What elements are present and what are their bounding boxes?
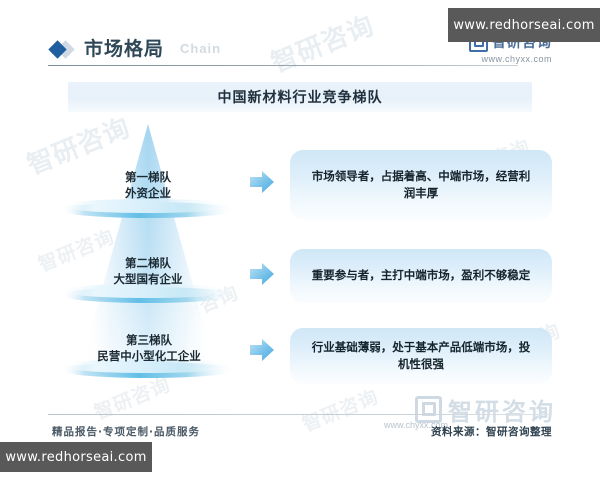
tier-description-3: 行业基础薄弱，处于基本产品低端市场，投机性很强 bbox=[308, 339, 534, 374]
tier-description-box-1: 市场领导者，占据着高、中端市场，经营利润丰厚 bbox=[290, 150, 552, 220]
tier-label-1: 第一梯队 外资企业 bbox=[88, 170, 208, 201]
tier-name-2: 大型国有企业 bbox=[78, 272, 218, 288]
footer-divider bbox=[48, 414, 552, 415]
tier-description-2: 重要参与者，主打中端市场，盈利不够稳定 bbox=[312, 267, 531, 284]
page-subtitle: Chain bbox=[180, 41, 221, 56]
arrow-right-icon bbox=[249, 262, 275, 286]
slide-page: 智研咨询 智研咨询 智研咨询 智研咨询 智研咨询 智研咨询 智研咨询 智研咨询 … bbox=[0, 0, 600, 480]
page-title: 市场格局 bbox=[84, 34, 164, 61]
header-divider bbox=[48, 65, 518, 66]
footer-brand-name: 智研咨询 bbox=[448, 392, 556, 427]
chart-title: 中国新材料行业竞争梯队 bbox=[218, 87, 383, 107]
tier-label-2: 第二梯队 大型国有企业 bbox=[78, 256, 218, 287]
watermark-tile: 智研咨询 bbox=[298, 382, 382, 437]
footer-slogan: 精品报告·专项定制·品质服务 bbox=[52, 424, 200, 439]
tier-name-1: 外资企业 bbox=[88, 186, 208, 202]
tier-rank-1: 第一梯队 bbox=[88, 170, 208, 186]
zhiyan-logo-icon bbox=[415, 396, 442, 423]
arrow-right-icon bbox=[249, 338, 275, 362]
tier-rank-3: 第三梯队 bbox=[64, 333, 234, 349]
footer-source: 资料来源：智研咨询整理 bbox=[431, 424, 552, 439]
tier-rank-2: 第二梯队 bbox=[78, 256, 218, 272]
tier-description-box-3: 行业基础薄弱，处于基本产品低端市场，投机性很强 bbox=[290, 328, 552, 384]
diamond-icon bbox=[48, 40, 78, 60]
redhorse-watermark-top: www.redhorseai.com bbox=[448, 8, 600, 42]
tier-name-3: 民营中小型化工企业 bbox=[64, 349, 234, 365]
brand-url: www.chyxx.com bbox=[469, 54, 552, 64]
redhorse-watermark-bottom: www.redhorseai.com bbox=[0, 442, 152, 472]
tier-description-box-2: 重要参与者，主打中端市场，盈利不够稳定 bbox=[290, 249, 552, 303]
tier-description-1: 市场领导者，占据着高、中端市场，经营利润丰厚 bbox=[308, 168, 534, 203]
tier-label-3: 第三梯队 民营中小型化工企业 bbox=[64, 333, 234, 364]
chart-title-banner: 中国新材料行业竞争梯队 bbox=[68, 82, 532, 112]
arrow-right-icon bbox=[249, 170, 275, 194]
